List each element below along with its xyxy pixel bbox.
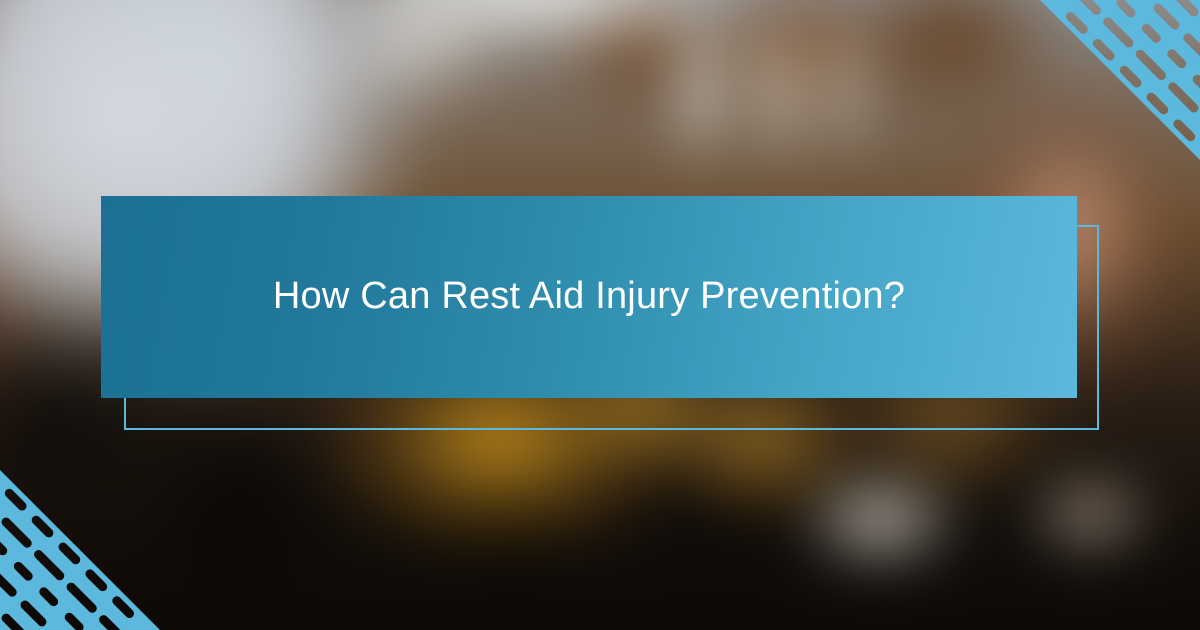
page-title: How Can Rest Aid Injury Prevention? [245, 274, 933, 320]
banner-card: How Can Rest Aid Injury Prevention? [0, 0, 1200, 630]
title-banner: How Can Rest Aid Injury Prevention? [101, 196, 1077, 398]
